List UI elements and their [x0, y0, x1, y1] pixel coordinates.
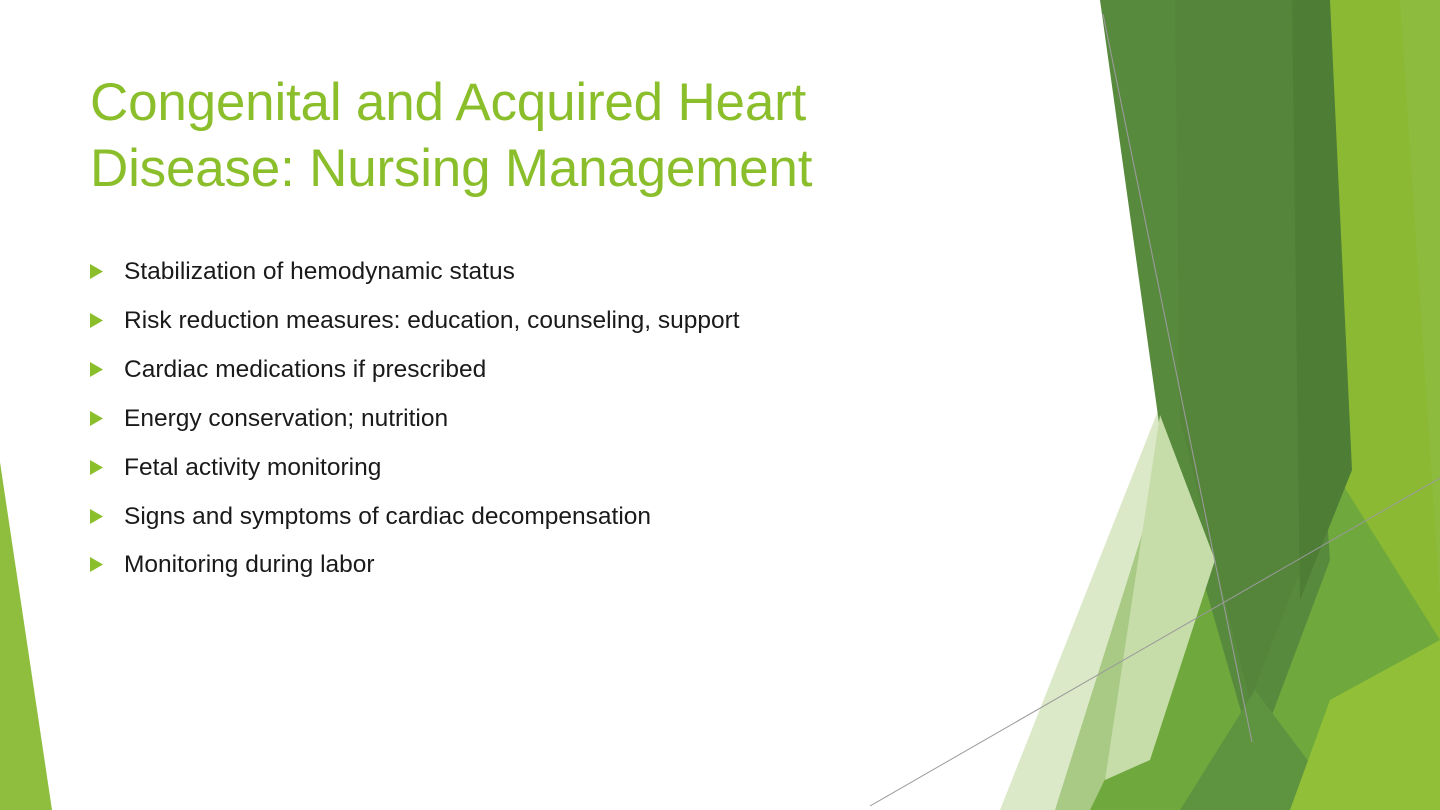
- list-item-label: Risk reduction measures: education, coun…: [124, 307, 740, 336]
- facet-shape-light-mid: [1055, 350, 1355, 810]
- list-item-label: Stabilization of hemodynamic status: [124, 258, 515, 287]
- list-item-label: Cardiac medications if prescribed: [124, 356, 486, 385]
- triangle-right-icon: [90, 362, 103, 377]
- facet-shape-bright-far-right: [1330, 0, 1440, 810]
- list-item: Fetal activity monitoring: [90, 454, 990, 483]
- page-title: Congenital and Acquired Heart Disease: N…: [90, 70, 990, 201]
- triangle-right-icon: [90, 557, 103, 572]
- facet-shape-bright-mid: [1100, 0, 1440, 810]
- list-item: Energy conservation; nutrition: [90, 405, 990, 434]
- facet-hairline-steep-lower: [1188, 430, 1252, 742]
- list-item-label: Fetal activity monitoring: [124, 454, 381, 483]
- list-item: Signs and symptoms of cardiac decompensa…: [90, 503, 990, 532]
- list-item-label: Energy conservation; nutrition: [124, 405, 448, 434]
- facet-shape-bottom-left-wedge: [0, 462, 52, 810]
- facet-hairline-steep: [1103, 14, 1188, 430]
- list-item: Monitoring during labor: [90, 551, 990, 580]
- facet-shape-pale-lower: [1000, 330, 1330, 810]
- list-item: Risk reduction measures: education, coun…: [90, 307, 990, 336]
- facet-shape-bright-right: [1090, 0, 1440, 810]
- list-item: Cardiac medications if prescribed: [90, 356, 990, 385]
- facet-shape-dark-overlap: [1292, 0, 1352, 600]
- presentation-slide: Congenital and Acquired Heart Disease: N…: [0, 0, 1440, 810]
- triangle-right-icon: [90, 264, 103, 279]
- facet-shape-deep-bottom: [1180, 690, 1345, 810]
- bullet-list: Stabilization of hemodynamic status Risk…: [90, 258, 990, 580]
- triangle-right-icon: [90, 460, 103, 475]
- slide-content-area: Congenital and Acquired Heart Disease: N…: [90, 70, 990, 201]
- facet-shape-dark-inner: [1175, 0, 1320, 700]
- triangle-right-icon: [90, 411, 103, 426]
- facet-shape-light-sliver: [1105, 415, 1215, 780]
- list-item: Stabilization of hemodynamic status: [90, 258, 990, 287]
- list-item-label: Signs and symptoms of cardiac decompensa…: [124, 503, 651, 532]
- list-item-label: Monitoring during labor: [124, 551, 375, 580]
- triangle-right-icon: [90, 509, 103, 524]
- facet-shape-mid-green-lower: [1090, 400, 1440, 810]
- triangle-right-icon: [90, 313, 103, 328]
- facet-shape-bright-bottom-sliver: [1290, 640, 1440, 810]
- facet-shape-dark-main: [1100, 0, 1330, 760]
